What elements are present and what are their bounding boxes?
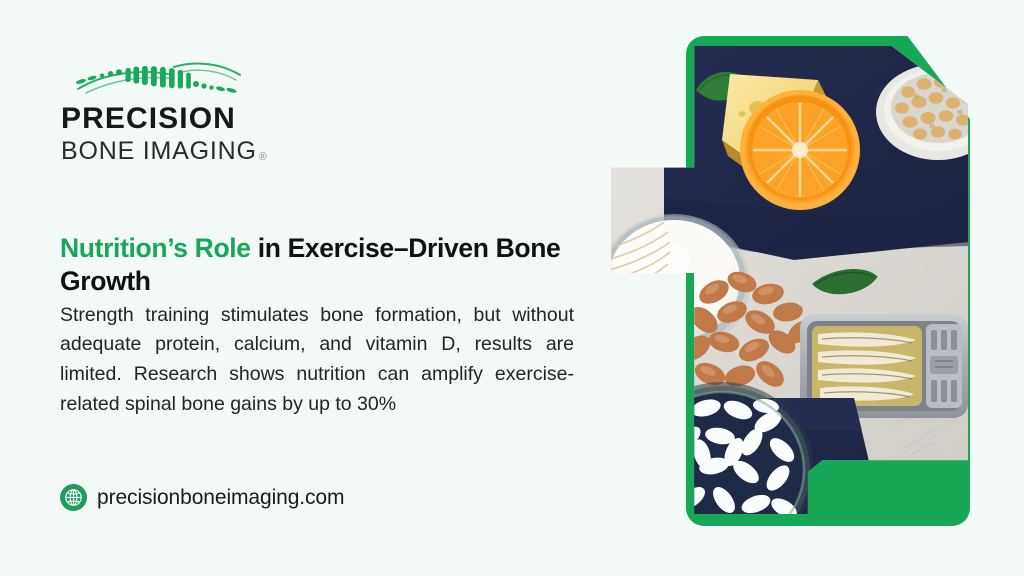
food-photo-illustration (604, 46, 968, 514)
footer-website[interactable]: precisionboneimaging.com (60, 484, 344, 511)
website-url-text: precisionboneimaging.com (97, 487, 344, 508)
media-panel (596, 24, 996, 552)
logo-text-bone-imaging: BONE IMAGING (61, 139, 257, 164)
logo-text-precision: PRECISION (61, 104, 290, 134)
headline-accent: Nutrition’s Role (60, 233, 251, 263)
registered-trademark-icon: ® (259, 152, 267, 163)
body-paragraph: Strength training stimulates bone format… (60, 301, 574, 420)
spine-waveform-icon (70, 58, 250, 102)
logo-text-bone-imaging-row: BONE IMAGING ® (61, 139, 290, 164)
headline: Nutrition’s Role in Exercise–Driven Bone… (60, 232, 574, 298)
food-photo (604, 46, 968, 514)
slide-canvas: PRECISION BONE IMAGING ® Nutrition’s Rol… (0, 0, 1024, 576)
globe-icon (60, 484, 87, 511)
content-column: PRECISION BONE IMAGING ® Nutrition’s Rol… (56, 0, 576, 576)
brand-logo: PRECISION BONE IMAGING ® (60, 58, 290, 164)
